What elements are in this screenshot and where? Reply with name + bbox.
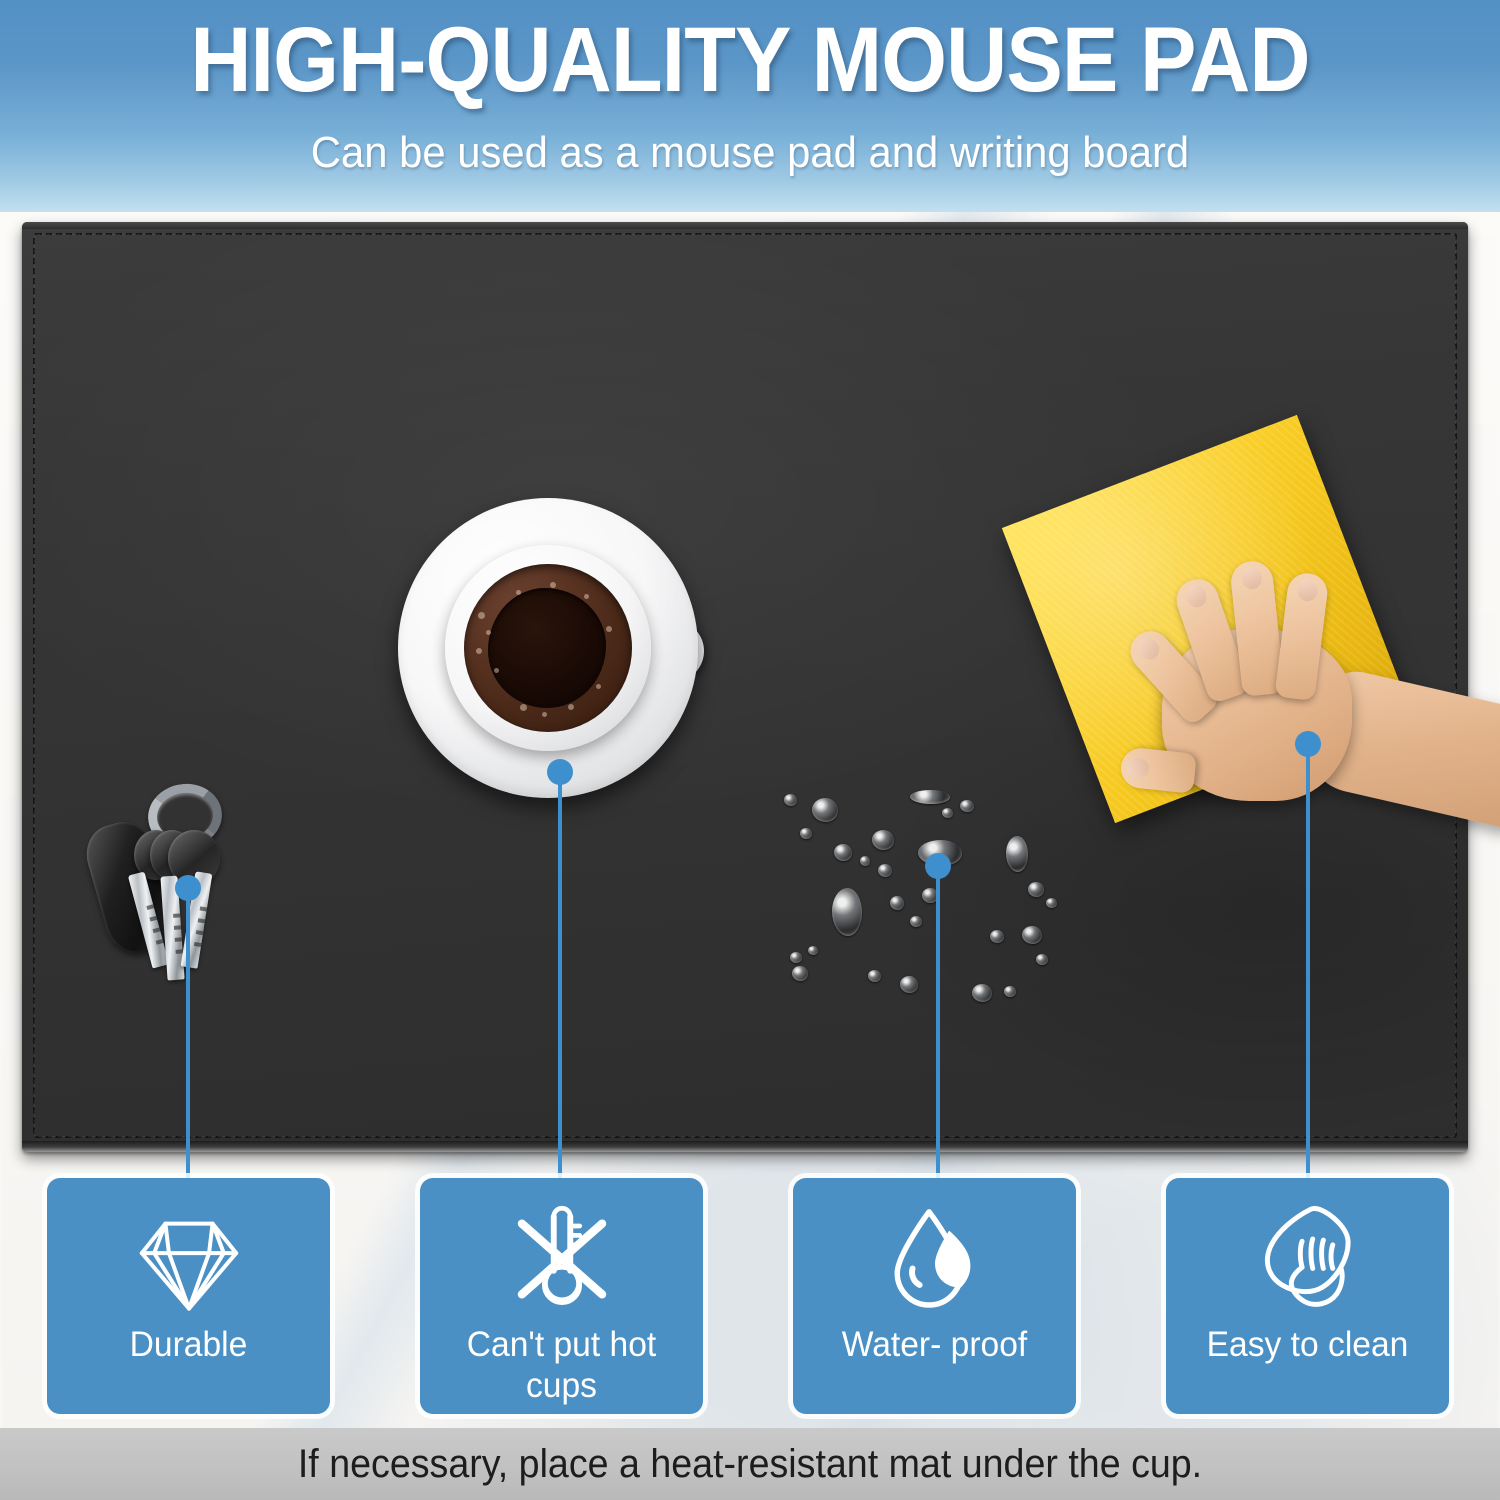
connector-dot-easy-clean bbox=[1295, 731, 1321, 757]
connector-dot-durable bbox=[175, 875, 201, 901]
header-banner: HIGH-QUALITY MOUSE PAD Can be used as a … bbox=[0, 0, 1500, 212]
infographic-stage: HIGH-QUALITY MOUSE PAD Can be used as a … bbox=[0, 0, 1500, 1500]
keys-object bbox=[88, 778, 258, 988]
feature-card-water-proof[interactable]: Water- proof bbox=[793, 1178, 1076, 1414]
water-droplets-object bbox=[760, 770, 1060, 1010]
feature-label: Water- proof bbox=[799, 1324, 1071, 1365]
feature-card-easy-to-clean[interactable]: Easy to clean bbox=[1166, 1178, 1449, 1414]
no-hot-cup-thermometer-icon bbox=[503, 1200, 621, 1318]
connector-dot-hot-cups bbox=[547, 759, 573, 785]
mat-bottom-edge bbox=[22, 1141, 1468, 1152]
water-drop-icon bbox=[876, 1200, 994, 1318]
connector-dot-water-proof bbox=[925, 853, 951, 879]
feature-card-durable[interactable]: Durable bbox=[47, 1178, 330, 1414]
connector-line-durable bbox=[186, 888, 190, 1180]
feature-label: Easy to clean bbox=[1172, 1324, 1444, 1365]
coffee-crema bbox=[464, 564, 632, 732]
hand-wiping-cloth-icon bbox=[1249, 1200, 1367, 1318]
feature-label: Can't put hot cups bbox=[426, 1324, 698, 1406]
feature-card-no-hot-cups[interactable]: Can't put hot cups bbox=[420, 1178, 703, 1414]
hand bbox=[1134, 537, 1464, 837]
page-title: HIGH-QUALITY MOUSE PAD bbox=[60, 8, 1440, 112]
diamond-icon bbox=[130, 1200, 248, 1318]
page-subtitle: Can be used as a mouse pad and writing b… bbox=[38, 126, 1463, 180]
feature-label: Durable bbox=[53, 1324, 325, 1365]
connector-line-water-proof bbox=[936, 866, 940, 1180]
coffee-cup-object bbox=[398, 498, 714, 798]
connector-line-easy-clean bbox=[1306, 744, 1310, 1180]
hand-with-cloth-object bbox=[1040, 445, 1470, 865]
connector-line-hot-cups bbox=[558, 772, 562, 1180]
coffee-liquid bbox=[488, 588, 606, 708]
footer-note-banner: If necessary, place a heat-resistant mat… bbox=[0, 1428, 1500, 1500]
feature-card-row: Durable Can't put hot cups bbox=[0, 1178, 1500, 1418]
footer-note-text: If necessary, place a heat-resistant mat… bbox=[298, 1440, 1202, 1488]
